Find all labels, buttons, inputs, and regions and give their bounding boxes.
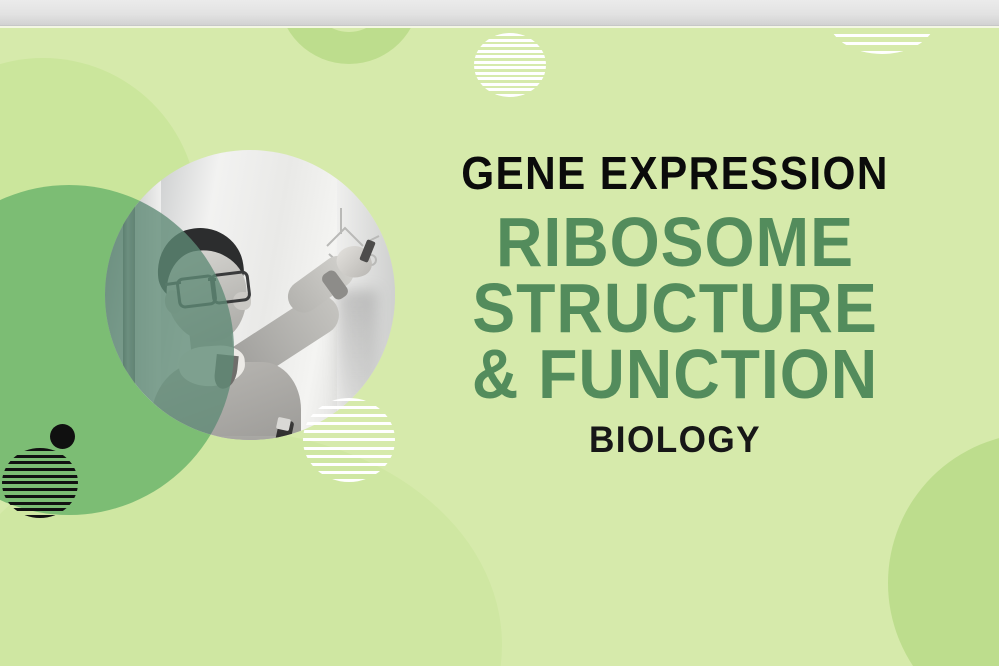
slide-canvas: GENE EXPRESSION RIBOSOME STRUCTURE & FUN… [0, 0, 999, 666]
subtitle: BIOLOGY [452, 421, 899, 458]
eyebrow-heading: GENE EXPRESSION [459, 150, 891, 196]
striped-circle-bottom-left-icon [2, 448, 78, 518]
marker-cap-icon [276, 417, 291, 431]
main-title: RIBOSOME STRUCTURE & FUNCTION [459, 210, 891, 407]
chrome-divider [0, 26, 999, 28]
main-title-line-3: & FUNCTION [459, 342, 891, 408]
glasses-lens-right-icon [209, 270, 251, 306]
title-block: GENE EXPRESSION RIBOSOME STRUCTURE & FUN… [440, 150, 910, 458]
black-dot-icon [50, 424, 75, 449]
main-title-line-1: RIBOSOME [459, 210, 891, 276]
portrait-photo [105, 150, 395, 440]
background-blob-soft [0, 430, 502, 666]
browser-chrome-bar[interactable] [0, 0, 999, 26]
striped-circle-top-center-icon [474, 33, 546, 97]
portrait-photo-scene [105, 150, 395, 440]
donut-bottom-right-icon [888, 433, 999, 666]
main-title-line-2: STRUCTURE [459, 276, 891, 342]
glasses-bridge-icon [208, 278, 216, 281]
